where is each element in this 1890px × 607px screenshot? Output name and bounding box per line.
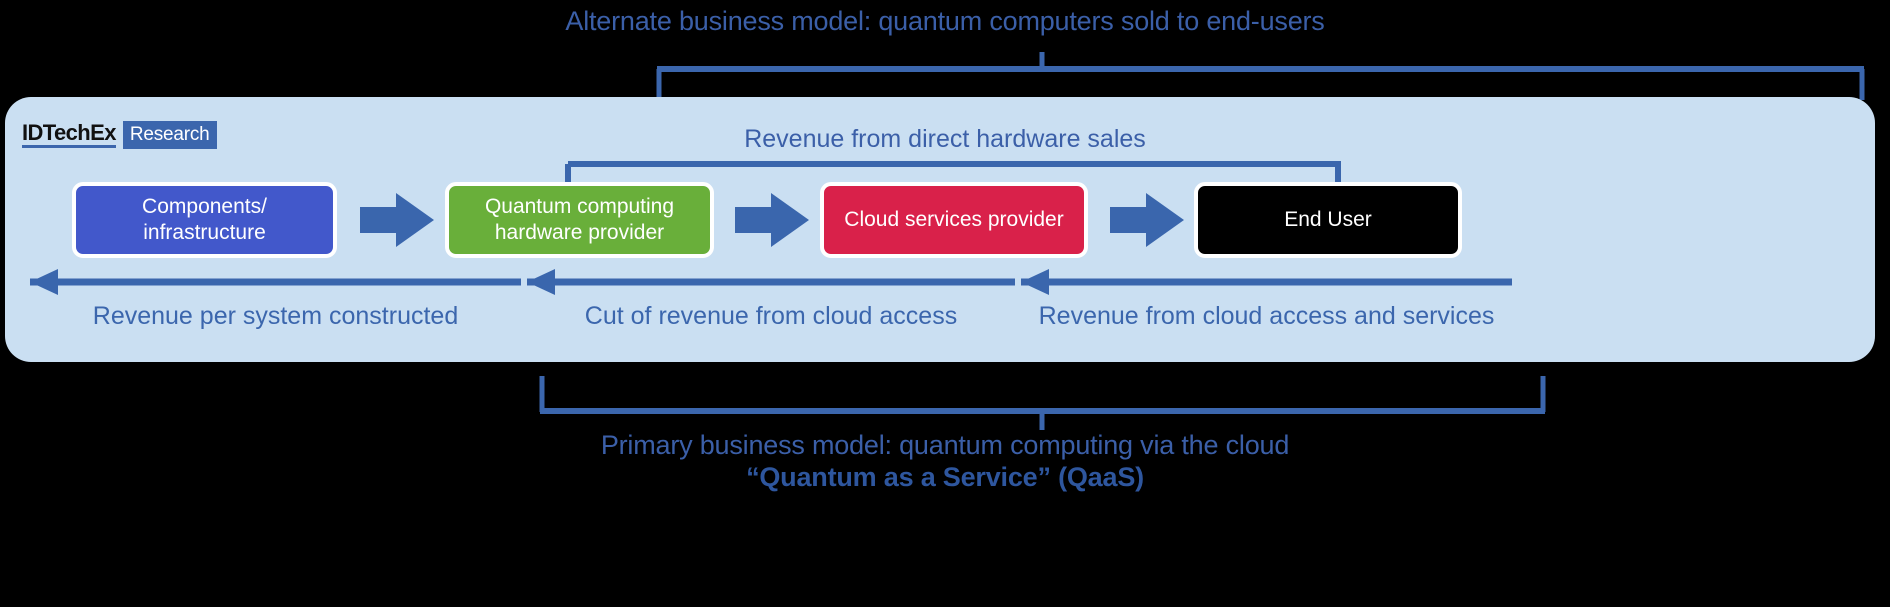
box-label: Quantum computing hardware provider bbox=[485, 194, 674, 246]
revenue-label-cloud-access-and-services: Revenue from cloud access and services bbox=[1021, 302, 1512, 331]
box-label-line2: infrastructure bbox=[143, 221, 266, 244]
revenue-label-per-system-constructed: Revenue per system constructed bbox=[30, 302, 521, 331]
bottom-caption-qaas: “Quantum as a Service” (QaaS) bbox=[0, 462, 1890, 493]
box-label: End User bbox=[1284, 207, 1372, 233]
box-label: Cloud services provider bbox=[844, 207, 1063, 233]
box-label-line1: Quantum computing bbox=[485, 195, 674, 218]
box-components-infrastructure[interactable]: Components/ infrastructure bbox=[72, 182, 337, 258]
revenue-label-cut-of-cloud-access: Cut of revenue from cloud access bbox=[527, 302, 1015, 331]
chevron-arrow-icon-3 bbox=[1110, 193, 1184, 247]
top-caption-alternate-business-model: Alternate business model: quantum comput… bbox=[0, 6, 1890, 37]
chevron-arrow-icon-2 bbox=[735, 193, 809, 247]
label-direct-hardware-sales: Revenue from direct hardware sales bbox=[0, 125, 1890, 154]
bottom-bracket-connector bbox=[0, 368, 1890, 438]
box-cloud-services-provider[interactable]: Cloud services provider bbox=[820, 182, 1088, 258]
box-quantum-computing-hardware-provider[interactable]: Quantum computing hardware provider bbox=[445, 182, 714, 258]
box-label-line2: hardware provider bbox=[495, 221, 664, 244]
box-label: Components/ infrastructure bbox=[142, 194, 267, 246]
box-label-line1: Components/ bbox=[142, 195, 267, 218]
diagram-canvas: Alternate business model: quantum comput… bbox=[0, 0, 1890, 607]
box-end-user[interactable]: End User bbox=[1194, 182, 1462, 258]
chevron-arrow-icon-1 bbox=[360, 193, 434, 247]
bottom-caption-primary-business-model: Primary business model: quantum computin… bbox=[0, 430, 1890, 461]
